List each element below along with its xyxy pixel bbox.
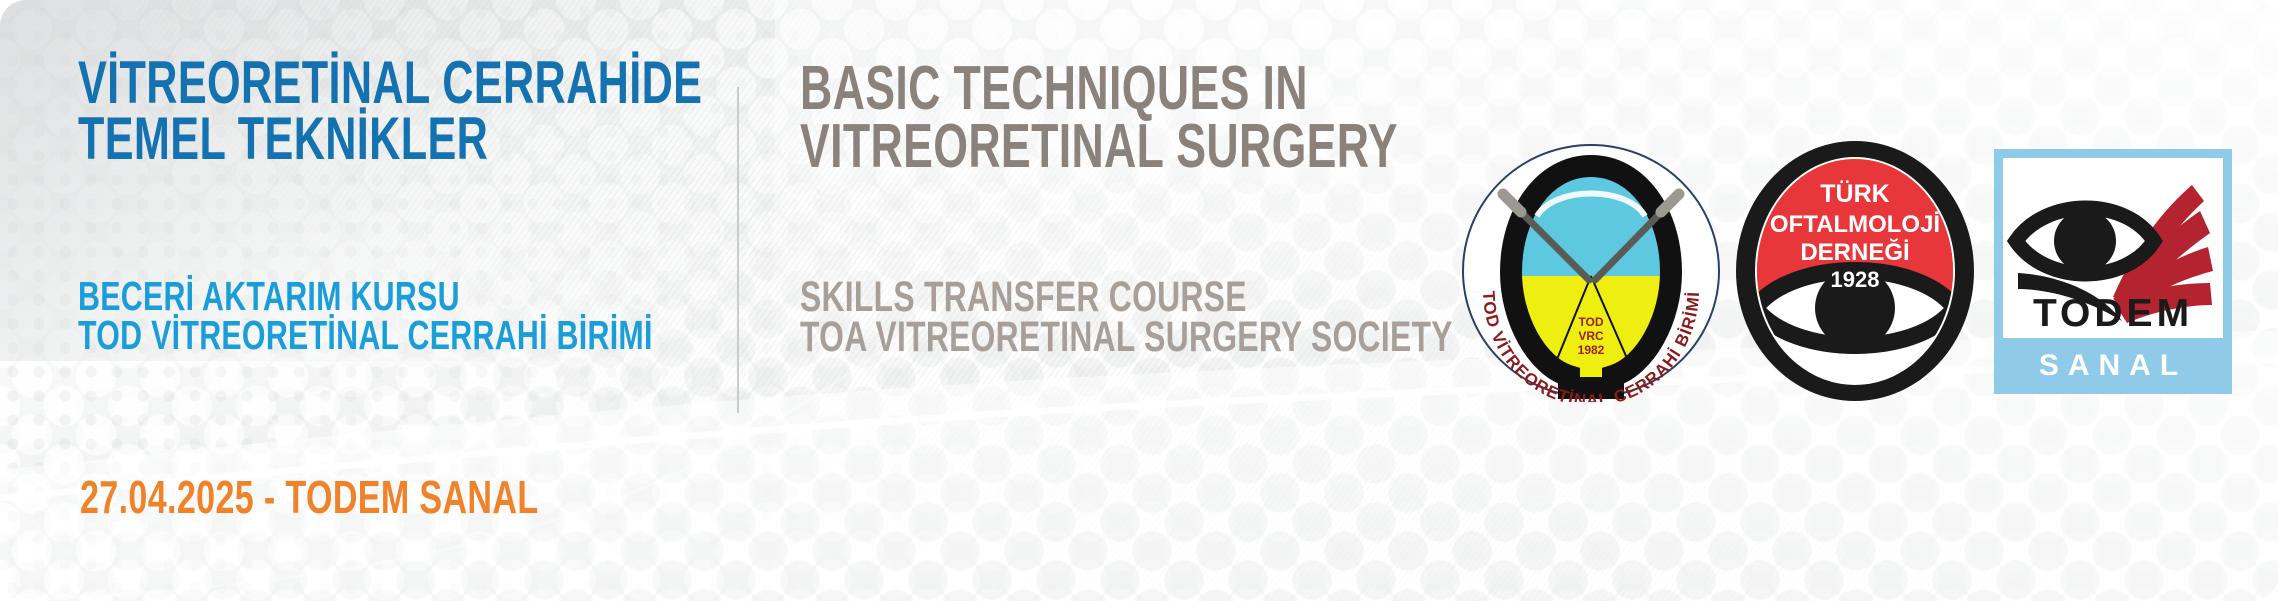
english-subtitle-block: SKILLS TRANSFER COURSE TOA VITREORETINAL… <box>800 277 1453 357</box>
english-title-line-1: BASIC TECHNIQUES IN <box>800 60 1398 118</box>
turkish-title-line-1: VİTREORETİNAL CERRAHİDE <box>78 55 702 111</box>
english-title-line-2: VITREORETINAL SURGERY <box>800 118 1398 176</box>
logo-vrc-inner-line-1: TOD <box>1578 315 1603 329</box>
tod-vitreoretinal-cerrahi-birimi-logo: TOD VRC 1982 TOD VİTREORETİNAL CERRAHİ B… <box>1455 140 1727 402</box>
event-date-venue: 27.04.2025 - TODEM SANAL <box>80 474 538 520</box>
english-subtitle-line-2: TOA VITREORETINAL SURGERY SOCIETY <box>800 317 1453 357</box>
turkish-subtitle-block: BECERİ AKTARIM KURSU TOD VİTREORETİNAL C… <box>78 277 653 355</box>
logo-tod-line-1: TÜRK <box>1820 179 1889 208</box>
logo-tod-line-4: 1928 <box>1831 267 1880 292</box>
logo-tod-line-2: OFTALMOLOJİ <box>1770 211 1940 238</box>
turkish-title-line-2: TEMEL TEKNİKLER <box>78 111 702 167</box>
event-banner: VİTREORETİNAL CERRAHİDE TEMEL TEKNİKLER … <box>0 0 2278 601</box>
logo-row: TOD VRC 1982 TOD VİTREORETİNAL CERRAHİ B… <box>1455 140 2245 402</box>
turkish-subtitle-line-1: BECERİ AKTARIM KURSU <box>78 277 653 316</box>
todem-sanal-logo: TODEM SANAL <box>1994 149 2232 394</box>
logo-vrc-inner-line-2: VRC <box>1578 329 1604 343</box>
logo-tod-line-3: DERNEĞİ <box>1800 238 1909 266</box>
vertical-divider <box>737 87 739 413</box>
english-subtitle-line-1: SKILLS TRANSFER COURSE <box>800 277 1453 317</box>
logo-todem-wordmark: TODEM <box>2033 292 2193 335</box>
turk-oftalmoloji-dernegi-logo: TÜRK OFTALMOLOJİ DERNEĞİ 1928 <box>1733 140 1977 402</box>
logo-vrc-inner-line-3: 1982 <box>1578 343 1605 357</box>
logo-todem-banner-text: SANAL <box>2039 349 2187 382</box>
turkish-subtitle-line-2: TOD VİTREORETİNAL CERRAHİ BİRİMİ <box>78 316 653 355</box>
